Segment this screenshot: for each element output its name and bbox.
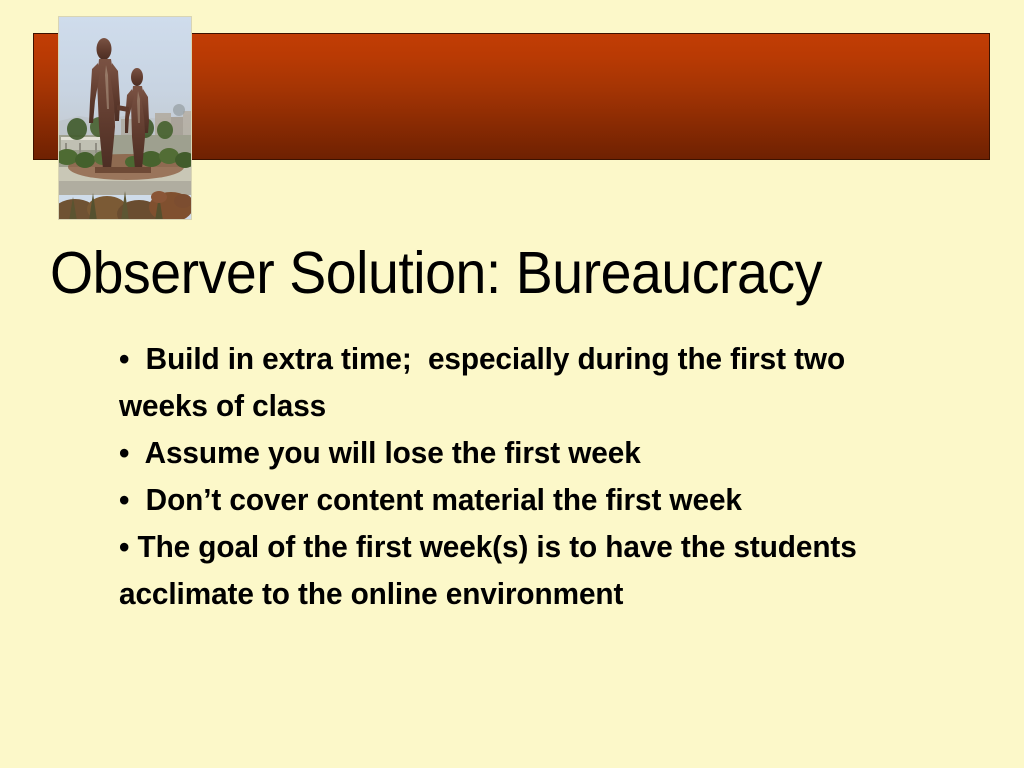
sculpture-photo [58, 16, 192, 220]
bullet-item: • Assume you will lose the first week [119, 429, 877, 476]
slide-title: Observer Solution: Bureaucracy [50, 243, 956, 304]
bullet-item: • Don’t cover content material the first… [119, 476, 877, 523]
bullet-item: • The goal of the first week(s) is to ha… [119, 523, 877, 617]
presentation-slide: Observer Solution: Bureaucracy • Build i… [0, 0, 1024, 768]
bullet-item: • Build in extra time; especially during… [119, 335, 877, 429]
sculpture-photo-graphic [59, 17, 192, 220]
slide-body-bullets: • Build in extra time; especially during… [119, 335, 877, 617]
